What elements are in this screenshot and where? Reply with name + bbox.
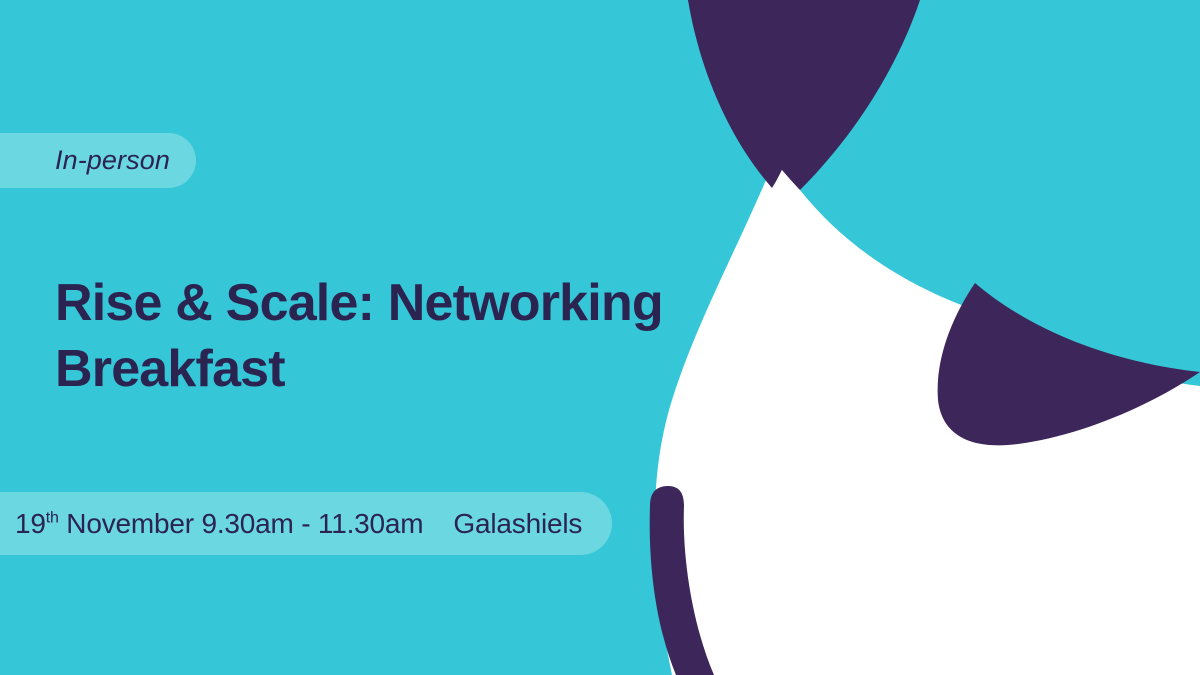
event-title-line-2: Breakfast xyxy=(55,336,755,402)
event-day-suffix: th xyxy=(46,509,59,526)
event-title: Rise & Scale: Networking Breakfast xyxy=(55,270,755,402)
event-location: Galashiels xyxy=(453,508,582,539)
event-time-range: 9.30am - 11.30am xyxy=(201,508,423,539)
banner-content: In-person Rise & Scale: Networking Break… xyxy=(0,0,1200,675)
in-person-badge-label: In-person xyxy=(55,145,170,176)
in-person-badge: In-person xyxy=(0,133,196,188)
event-date-time: 19th November 9.30am - 11.30amGalashiels xyxy=(15,508,582,540)
event-title-line-1: Rise & Scale: Networking xyxy=(55,270,755,336)
event-day-number: 19 xyxy=(15,508,46,539)
event-month: November xyxy=(66,508,194,539)
event-meta-pill: 19th November 9.30am - 11.30amGalashiels xyxy=(0,492,612,555)
event-banner: In-person Rise & Scale: Networking Break… xyxy=(0,0,1200,675)
